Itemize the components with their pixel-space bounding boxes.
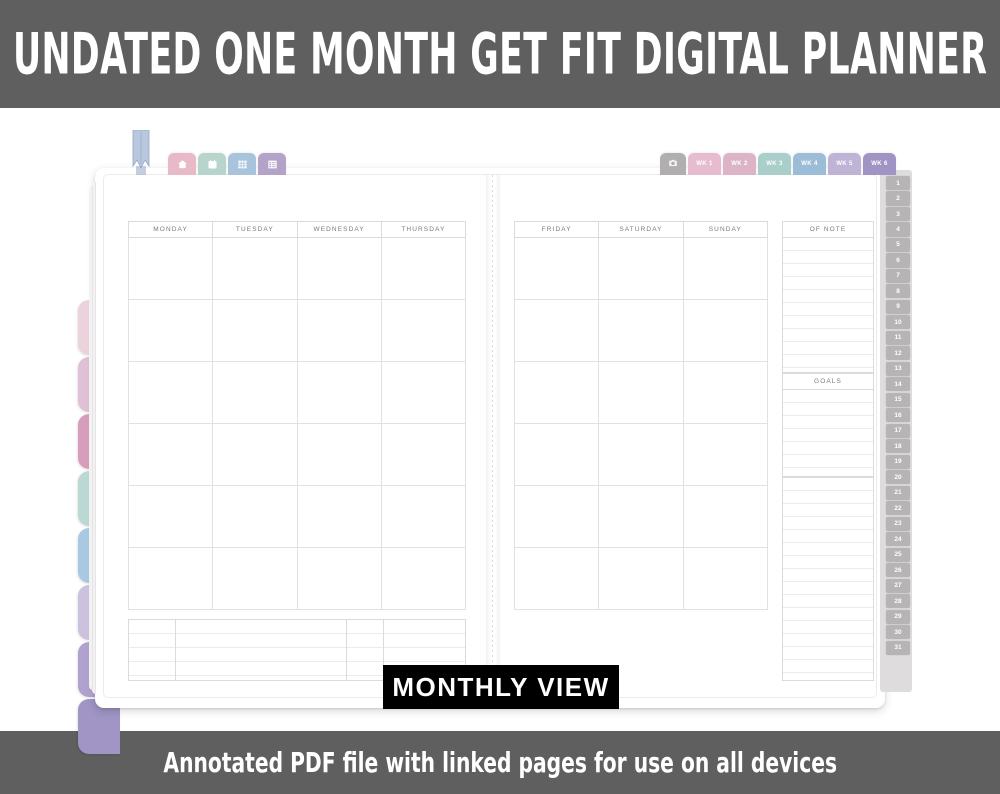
day-tab-label: 23 <box>894 520 901 527</box>
calendar-day-cell[interactable] <box>381 548 465 610</box>
day-tab-label: 22 <box>894 505 901 512</box>
weekday-header-monday: MONDAY <box>129 222 213 238</box>
of-note-panel[interactable]: OF NOTE <box>782 221 874 373</box>
weekday-header-saturday: SATURDAY <box>599 222 683 238</box>
calendar-day-cell[interactable] <box>129 238 213 300</box>
grid-icon <box>237 159 248 170</box>
calendar-day-cell[interactable] <box>683 362 767 424</box>
of-note-title: OF NOTE <box>783 222 873 238</box>
left-calendar-block: MONDAYTUESDAYWEDNESDAYTHURSDAY <box>128 221 466 610</box>
tab-list[interactable] <box>258 153 286 175</box>
day-tab-label: 20 <box>894 474 901 481</box>
tab-calendar[interactable] <box>198 153 226 175</box>
calendar-day-cell[interactable] <box>297 486 381 548</box>
day-tab-11[interactable]: 11 <box>886 331 910 345</box>
day-tab-label: 13 <box>894 365 901 372</box>
day-tab-31[interactable]: 31 <box>886 641 910 655</box>
calendar-day-cell[interactable] <box>599 300 683 362</box>
week-tab-wk-5[interactable]: WK 5 <box>828 153 861 175</box>
calendar-day-cell[interactable] <box>129 424 213 486</box>
calendar-day-cell[interactable] <box>515 238 599 300</box>
planner-listing-image: UNDATED ONE MONTH GET FIT DIGITAL PLANNE… <box>0 0 1000 794</box>
planner-stage: 1234567891011121314151617181920212223242… <box>0 108 1000 731</box>
day-tab-label: 17 <box>894 427 901 434</box>
weekday-header-tuesday: TUESDAY <box>213 222 297 238</box>
day-tab-label: 3 <box>896 211 900 218</box>
camera-icon <box>668 158 678 170</box>
calendar-day-cell[interactable] <box>213 548 297 610</box>
calendar-day-cell[interactable] <box>683 424 767 486</box>
day-tab-27[interactable]: 27 <box>886 579 910 593</box>
week-tab-wk-2[interactable]: WK 2 <box>723 153 756 175</box>
goals-title: GOALS <box>783 374 873 390</box>
calendar-day-cell[interactable] <box>381 424 465 486</box>
day-tab-label: 12 <box>894 350 901 357</box>
day-tabs: 1234567891011121314151617181920212223242… <box>886 176 910 656</box>
calendar-day-cell[interactable] <box>515 424 599 486</box>
calendar-day-cell[interactable] <box>683 238 767 300</box>
week-tab-label: WK 6 <box>871 161 888 167</box>
week-tab-label: WK 2 <box>731 161 748 167</box>
day-tab-label: 29 <box>894 613 901 620</box>
calendar-day-cell[interactable] <box>599 548 683 610</box>
calendar-day-cell[interactable] <box>381 486 465 548</box>
day-tab-label: 31 <box>894 644 901 651</box>
week-tab-label: WK 1 <box>696 161 713 167</box>
day-tab-label: 5 <box>896 241 900 248</box>
day-tab-30[interactable]: 30 <box>886 625 910 639</box>
day-tab-13[interactable]: 13 <box>886 362 910 376</box>
day-tab-21[interactable]: 21 <box>886 486 910 500</box>
calendar-icon <box>207 159 218 170</box>
calendar-week-row <box>129 300 466 362</box>
calendar-week-row <box>515 362 768 424</box>
week-tab-label: WK 5 <box>836 161 853 167</box>
day-tab-label: 18 <box>894 443 901 450</box>
weekday-header-wednesday: WEDNESDAY <box>297 222 381 238</box>
day-tab-label: 19 <box>894 458 901 465</box>
calendar-day-cell[interactable] <box>297 362 381 424</box>
calendar-day-cell[interactable] <box>515 486 599 548</box>
calendar-week-row <box>129 238 466 300</box>
calendar-day-cell[interactable] <box>599 486 683 548</box>
calendar-week-row <box>129 486 466 548</box>
weekday-header-thursday: THURSDAY <box>381 222 465 238</box>
day-tab-label: 26 <box>894 567 901 574</box>
header-banner: UNDATED ONE MONTH GET FIT DIGITAL PLANNE… <box>0 0 1000 108</box>
day-tab-label: 24 <box>894 536 901 543</box>
calendar-week-row <box>129 548 466 610</box>
calendar-table-right: FRIDAYSATURDAYSUNDAY <box>514 221 768 610</box>
calendar-body <box>129 238 466 610</box>
notes-column[interactable] <box>129 620 176 680</box>
day-tab-label: 28 <box>894 598 901 605</box>
week-tab-label: WK 3 <box>766 161 783 167</box>
day-tab-29[interactable]: 29 <box>886 610 910 624</box>
calendar-day-cell[interactable] <box>213 486 297 548</box>
footer-banner: Annotated PDF file with linked pages for… <box>0 731 1000 794</box>
day-tab-label: 2 <box>896 195 900 202</box>
day-tab-label: 25 <box>894 551 901 558</box>
day-tab-9[interactable]: 9 <box>886 300 910 314</box>
day-tab-label: 11 <box>895 334 902 341</box>
day-tab-23[interactable]: 23 <box>886 517 910 531</box>
week-tab-wk-1[interactable]: WK 1 <box>688 153 721 175</box>
ruled-lines <box>347 620 383 680</box>
calendar-table-left: MONDAYTUESDAYWEDNESDAYTHURSDAY <box>128 221 466 610</box>
calendar-day-cell[interactable] <box>297 424 381 486</box>
calendar-day-cell[interactable] <box>381 362 465 424</box>
page-edge <box>89 186 93 690</box>
week-tab-camera[interactable] <box>660 153 686 175</box>
calendar-day-cell[interactable] <box>683 300 767 362</box>
ruled-lines <box>129 620 175 680</box>
day-tab-label: 14 <box>894 381 901 388</box>
calendar-day-cell[interactable] <box>129 486 213 548</box>
right-calendar-block: FRIDAYSATURDAYSUNDAY <box>514 221 768 610</box>
calendar-day-cell[interactable] <box>599 362 683 424</box>
day-tab-label: 1 <box>896 180 900 187</box>
day-tab-label: 6 <box>896 257 900 264</box>
page-title: UNDATED ONE MONTH GET FIT DIGITAL PLANNE… <box>13 20 987 87</box>
day-tab-24[interactable]: 24 <box>886 532 910 546</box>
left-page: MONDAYTUESDAYWEDNESDAYTHURSDAY <box>104 175 486 698</box>
calendar-day-cell[interactable] <box>381 238 465 300</box>
weekday-header-friday: FRIDAY <box>515 222 599 238</box>
day-tab-label: 15 <box>894 396 901 403</box>
calendar-day-cell[interactable] <box>515 362 599 424</box>
extra-notes-panel[interactable] <box>782 477 874 681</box>
view-badge: MONTHLY VIEW <box>383 665 619 709</box>
calendar-day-cell[interactable] <box>129 300 213 362</box>
day-tab-15[interactable]: 15 <box>886 393 910 407</box>
day-tab-7[interactable]: 7 <box>886 269 910 283</box>
day-tab-28[interactable]: 28 <box>886 594 910 608</box>
week-tabs: WK 1WK 2WK 3WK 4WK 5WK 6 <box>660 153 896 175</box>
week-tab-wk-3[interactable]: WK 3 <box>758 153 791 175</box>
day-tab-16[interactable]: 16 <box>886 408 910 422</box>
planner-book: MONDAYTUESDAYWEDNESDAYTHURSDAY <box>95 168 885 708</box>
calendar-day-cell[interactable] <box>213 300 297 362</box>
ruled-lines <box>783 478 873 680</box>
day-tab-label: 27 <box>894 582 901 589</box>
notes-column[interactable] <box>176 620 347 680</box>
calendar-week-row <box>515 238 768 300</box>
ruled-lines <box>783 390 873 476</box>
day-tab-2[interactable]: 2 <box>886 191 910 205</box>
calendar-day-cell[interactable] <box>515 300 599 362</box>
home-icon <box>177 159 188 170</box>
planner-spread: MONDAYTUESDAYWEDNESDAYTHURSDAY <box>103 174 877 698</box>
calendar-body <box>515 238 768 610</box>
day-tab-25[interactable]: 25 <box>886 548 910 562</box>
day-tab-14[interactable]: 14 <box>886 377 910 391</box>
calendar-day-cell[interactable] <box>683 486 767 548</box>
calendar-day-cell[interactable] <box>515 548 599 610</box>
day-tab-6[interactable]: 6 <box>886 253 910 267</box>
week-tab-wk-4[interactable]: WK 4 <box>793 153 826 175</box>
tab-grid[interactable] <box>228 153 256 175</box>
day-tab-label: 4 <box>896 226 900 233</box>
calendar-week-row <box>129 362 466 424</box>
day-tab-10[interactable]: 10 <box>886 315 910 329</box>
day-tab-12[interactable]: 12 <box>886 346 910 360</box>
day-tab-5[interactable]: 5 <box>886 238 910 252</box>
weekday-header-row: FRIDAYSATURDAYSUNDAY <box>515 222 768 238</box>
week-tab-wk-6[interactable]: WK 6 <box>863 153 896 175</box>
list-icon <box>267 159 278 170</box>
day-tab-label: 30 <box>894 629 901 636</box>
day-tab-19[interactable]: 19 <box>886 455 910 469</box>
right-page: FRIDAYSATURDAYSUNDAY OF NOTE GOALS <box>500 175 877 698</box>
day-tab-26[interactable]: 26 <box>886 563 910 577</box>
calendar-day-cell[interactable] <box>599 238 683 300</box>
day-tab-3[interactable]: 3 <box>886 207 910 221</box>
day-tab-label: 8 <box>896 288 900 295</box>
calendar-day-cell[interactable] <box>129 548 213 610</box>
day-tab-17[interactable]: 17 <box>886 424 910 438</box>
calendar-week-row <box>515 424 768 486</box>
day-tab-8[interactable]: 8 <box>886 284 910 298</box>
calendar-week-row <box>515 300 768 362</box>
weekday-header-row: MONDAYTUESDAYWEDNESDAYTHURSDAY <box>129 222 466 238</box>
day-tab-22[interactable]: 22 <box>886 501 910 515</box>
weekday-header-sunday: SUNDAY <box>683 222 767 238</box>
calendar-day-cell[interactable] <box>683 548 767 610</box>
day-tab-label: 21 <box>894 489 901 496</box>
ribbon-bookmark <box>130 130 152 176</box>
calendar-day-cell[interactable] <box>297 548 381 610</box>
calendar-day-cell[interactable] <box>599 424 683 486</box>
goals-panel[interactable]: GOALS <box>782 373 874 477</box>
day-tab-label: 7 <box>896 272 900 279</box>
calendar-day-cell[interactable] <box>129 362 213 424</box>
day-tab-1[interactable]: 1 <box>886 176 910 190</box>
day-tab-18[interactable]: 18 <box>886 439 910 453</box>
tab-home[interactable] <box>168 153 196 175</box>
day-tab-20[interactable]: 20 <box>886 470 910 484</box>
calendar-day-cell[interactable] <box>213 424 297 486</box>
ruled-lines <box>176 620 346 680</box>
calendar-day-cell[interactable] <box>297 300 381 362</box>
day-tab-4[interactable]: 4 <box>886 222 910 236</box>
calendar-day-cell[interactable] <box>381 300 465 362</box>
book-spine <box>486 175 500 698</box>
calendar-day-cell[interactable] <box>297 238 381 300</box>
calendar-week-row <box>515 548 768 610</box>
footer-text: Annotated PDF file with linked pages for… <box>163 746 837 778</box>
week-tab-label: WK 4 <box>801 161 818 167</box>
day-tab-label: 16 <box>894 412 901 419</box>
calendar-week-row <box>515 486 768 548</box>
day-tab-label: 10 <box>894 319 901 326</box>
view-badge-label: MONTHLY VIEW <box>392 672 609 703</box>
calendar-day-cell[interactable] <box>213 362 297 424</box>
top-icon-tabs <box>168 153 286 175</box>
day-tab-label: 9 <box>896 303 900 310</box>
ruled-lines <box>783 238 873 372</box>
calendar-week-row <box>129 424 466 486</box>
notes-column[interactable] <box>347 620 384 680</box>
calendar-day-cell[interactable] <box>213 238 297 300</box>
